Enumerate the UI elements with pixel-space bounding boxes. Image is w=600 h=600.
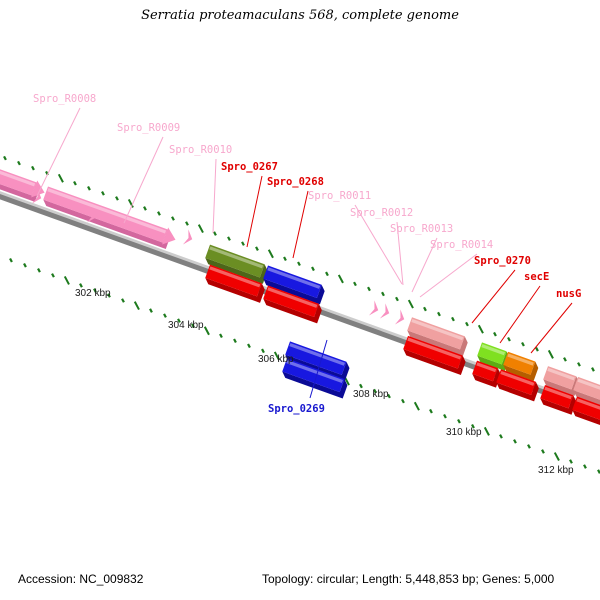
scale-tick-mark (58, 174, 64, 183)
scale-tick-mark (527, 444, 531, 449)
scale-tick-mark (338, 274, 344, 283)
scale-tick-mark (51, 273, 55, 278)
scale-tick-mark (583, 464, 587, 469)
scale-tick-mark (484, 427, 490, 436)
scale-tick-mark (219, 333, 223, 338)
label-spro-r0012[interactable]: Spro_R0012 (350, 207, 413, 219)
trna-arrow-3[interactable] (183, 229, 195, 246)
label-spro-0268[interactable]: Spro_0268 (267, 176, 324, 188)
trna-arrow-glyph (380, 303, 392, 320)
scale-tick-mark (121, 298, 125, 303)
trna-arrow-4[interactable] (369, 300, 381, 317)
scale-tick-mark (3, 156, 7, 161)
trna-arrow-6[interactable] (395, 309, 407, 326)
scale-tick-mark (513, 439, 517, 444)
scale-tick-mark (227, 236, 231, 241)
label-spro-0270[interactable]: Spro_0270 (474, 255, 531, 267)
scale-tick-mark (233, 338, 237, 343)
genome-diagram (0, 0, 600, 600)
scale-tick-mark (577, 362, 581, 367)
scale-tick-mark (451, 317, 455, 322)
scale-tick-mark (64, 276, 70, 285)
scale-tick-mark (157, 211, 161, 216)
scale-tick-mark (353, 282, 357, 287)
scale-tick-mark (23, 263, 27, 268)
label-nusg-leader (531, 303, 572, 353)
scale-tick-mark (507, 337, 511, 342)
scale-tick-mark (401, 399, 405, 404)
scale-tick-mark (499, 434, 503, 439)
scale-tick-mark (204, 326, 210, 335)
scale-tick-mark (73, 181, 77, 186)
scale-tick-mark (171, 216, 175, 221)
label-sece[interactable]: secE (524, 271, 549, 283)
scale-tick-mark (569, 459, 573, 464)
scale-tick-mark (149, 308, 153, 313)
scale-tick-mark (554, 452, 560, 461)
ruler-label-312-kbp: 312 kbp (538, 465, 574, 476)
scale-tick-mark (163, 313, 167, 318)
scale-tick-mark (17, 161, 21, 166)
scale-tick-mark (414, 402, 420, 411)
scale-tick-mark (311, 267, 315, 272)
scale-tick-mark (185, 221, 189, 226)
genome-map-canvas: Serratia proteamaculans 568, complete ge… (0, 0, 600, 600)
scale-tick-mark (521, 342, 525, 347)
label-spro-r0009[interactable]: Spro_R0009 (117, 122, 180, 134)
ruler-label-302-kbp: 302 kbp (75, 288, 111, 299)
label-spro-0267-leader (247, 176, 262, 247)
scale-tick-mark (359, 384, 363, 389)
scale-tick-mark (367, 287, 371, 292)
label-spro-r0010-leader (213, 159, 216, 233)
scale-tick-mark (198, 224, 204, 233)
scale-tick-mark (255, 246, 259, 251)
scale-tick-mark (37, 268, 41, 273)
scale-tick-mark (423, 307, 427, 312)
scale-tick-mark (134, 301, 140, 310)
label-spro-0268-leader (293, 191, 308, 258)
scale-tick-mark (478, 325, 484, 334)
scale-tick-mark (261, 349, 265, 354)
scale-tick-mark (325, 272, 329, 277)
ruler-label-308-kbp: 308 kbp (353, 389, 389, 400)
scale-tick-mark (457, 419, 461, 424)
scale-tick-mark (213, 231, 217, 236)
label-spro-r0014[interactable]: Spro_R0014 (430, 239, 493, 251)
label-spro-0267[interactable]: Spro_0267 (221, 161, 278, 173)
scale-tick-mark (115, 196, 119, 201)
scale-tick-mark (9, 258, 13, 263)
label-spro-r0013[interactable]: Spro_R0013 (390, 223, 453, 235)
trna-arrow-glyph (369, 300, 381, 317)
scale-tick-mark (241, 241, 245, 246)
scale-tick-mark (143, 206, 147, 211)
label-spro-r0009-leader (124, 137, 163, 223)
scale-tick-mark (429, 409, 433, 414)
scale-tick-mark (268, 249, 274, 258)
label-spro-0269[interactable]: Spro_0269 (268, 403, 325, 415)
scale-tick-mark (101, 191, 105, 196)
label-nusg[interactable]: nusG (556, 288, 581, 300)
label-spro-r0011[interactable]: Spro_R0011 (308, 190, 371, 202)
label-sece-leader (500, 286, 540, 343)
scale-tick-mark (591, 367, 595, 372)
scale-tick-mark (283, 256, 287, 261)
genome-stats-label: Topology: circular; Length: 5,448,853 bp… (262, 572, 554, 586)
ruler-label-304-kbp: 304 kbp (168, 320, 204, 331)
scale-tick-mark (465, 322, 469, 327)
scale-tick-mark (493, 332, 497, 337)
scale-tick-mark (408, 300, 414, 309)
scale-tick-mark (541, 449, 545, 454)
label-spro-r0008[interactable]: Spro_R0008 (33, 93, 96, 105)
label-spro-r0010[interactable]: Spro_R0010 (169, 144, 232, 156)
trna-arrow-5[interactable] (380, 303, 392, 320)
scale-tick-mark (297, 261, 301, 266)
scale-tick-mark (31, 166, 35, 171)
scale-tick-mark (395, 297, 399, 302)
scale-tick-mark (381, 292, 385, 297)
scale-tick-mark (548, 350, 554, 359)
label-spro-0270-leader (472, 270, 515, 323)
scale-tick-mark (563, 357, 567, 362)
scale-tick-mark (443, 414, 447, 419)
ruler-label-306-kbp: 306 kbp (258, 354, 294, 365)
trna-arrow-glyph (183, 229, 195, 246)
label-spro-r0014-leader (420, 254, 477, 297)
scale-tick-mark (87, 186, 91, 191)
ruler-label-310-kbp: 310 kbp (446, 427, 482, 438)
scale-tick-mark (247, 344, 251, 349)
scale-tick-mark (437, 312, 441, 317)
trna-arrow-glyph (395, 309, 407, 326)
accession-label: Accession: NC_009832 (18, 572, 143, 586)
